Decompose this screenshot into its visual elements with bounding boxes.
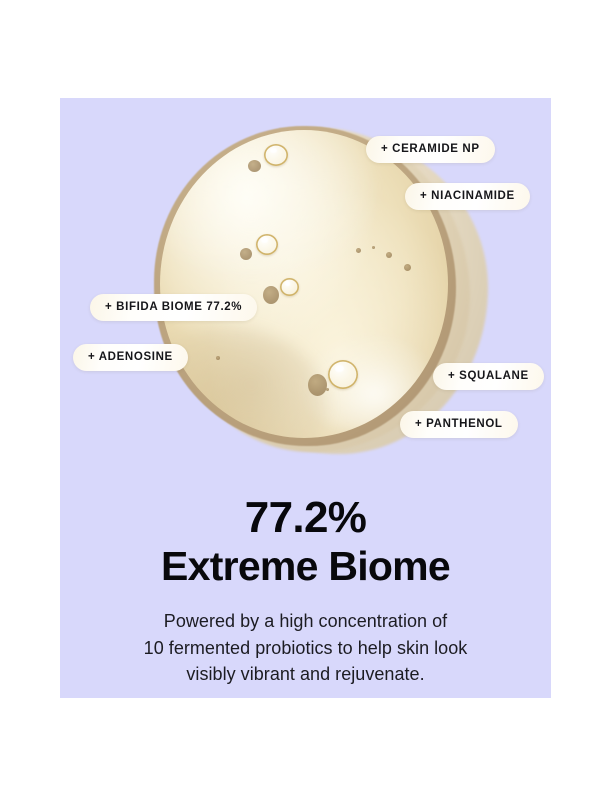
ingredient-pill-adenosine[interactable]: + ADENOSINE (73, 344, 188, 371)
product-info-panel: + CERAMIDE NP + NIACINAMIDE + BIFIDA BIO… (60, 98, 551, 698)
serum-speck-a (356, 248, 361, 253)
serum-speck-c (386, 252, 392, 258)
product-copy-block: 77.2% Extreme Biome Powered by a high co… (60, 496, 551, 688)
ingredient-label-ceramide-np: + CERAMIDE NP (381, 144, 480, 156)
ingredient-pill-panthenol[interactable]: + PANTHENOL (400, 411, 518, 438)
serum-bubble-top (264, 144, 288, 166)
serum-bubble-lower (328, 360, 358, 389)
description-line-1: Powered by a high concentration of (60, 608, 551, 635)
serum-speck-middle (240, 248, 252, 260)
serum-droplet-illustration: + CERAMIDE NP + NIACINAMIDE + BIFIDA BIO… (60, 98, 551, 478)
description-line-2: 10 fermented probiotics to help skin loo… (60, 635, 551, 662)
ingredient-label-panthenol: + PANTHENOL (415, 419, 503, 431)
serum-speck-e (326, 388, 329, 391)
ingredient-label-squalane: + SQUALANE (448, 371, 529, 383)
serum-speck-lower (308, 374, 327, 396)
ingredient-pill-squalane[interactable]: + SQUALANE (433, 363, 544, 390)
ingredient-label-adenosine: + ADENOSINE (88, 352, 173, 364)
ingredient-pill-ceramide-np[interactable]: + CERAMIDE NP (366, 136, 495, 163)
description-line-3: visibly vibrant and rejuvenate. (60, 661, 551, 688)
serum-speck-d (404, 264, 411, 271)
serum-speck-f (216, 356, 220, 360)
serum-shadow-arc (160, 327, 327, 438)
ingredient-label-bifida-biome: + BIFIDA BIOME 77.2% (105, 302, 242, 314)
page-canvas: + CERAMIDE NP + NIACINAMIDE + BIFIDA BIO… (0, 0, 600, 800)
serum-speck-b (372, 246, 375, 249)
ingredient-pill-bifida-biome[interactable]: + BIFIDA BIOME 77.2% (90, 294, 257, 321)
product-description: Powered by a high concentration of 10 fe… (60, 608, 551, 688)
ingredient-pill-niacinamide[interactable]: + NIACINAMIDE (405, 183, 530, 210)
serum-bubble-center (280, 278, 299, 296)
serum-bubble-middle (256, 234, 278, 255)
serum-body (160, 130, 448, 438)
serum-speck-center (263, 286, 279, 304)
headline-percentage: 77.2% (60, 496, 551, 540)
headline-product-name: Extreme Biome (60, 544, 551, 590)
ingredient-label-niacinamide: + NIACINAMIDE (420, 191, 515, 203)
serum-speck-top (248, 160, 261, 172)
